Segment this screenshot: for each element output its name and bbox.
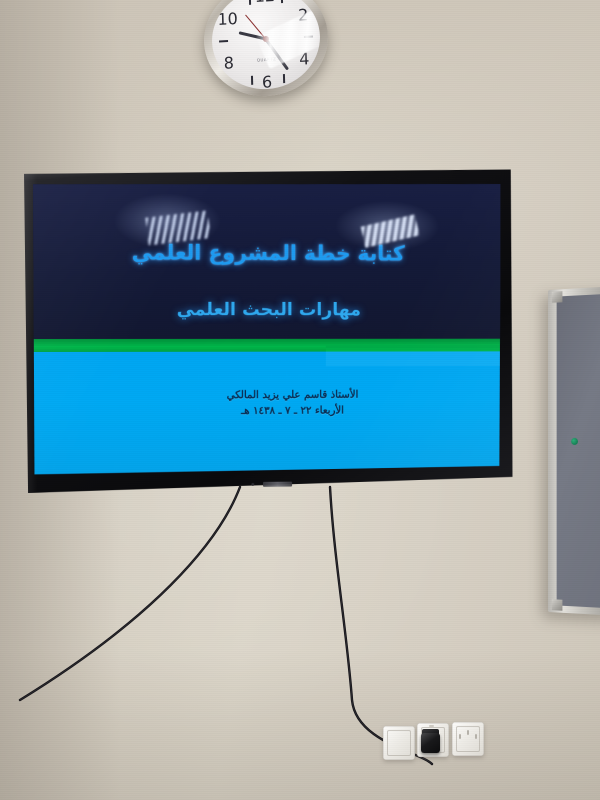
- socket-outlet[interactable]: [452, 722, 484, 756]
- socket-hole-right: [475, 734, 477, 739]
- clock-tick-5: [283, 74, 285, 83]
- tv-screen[interactable]: كتابة خطة المشروع العلمي مهارات البحث ال…: [32, 180, 501, 474]
- board-corner-bottom-left: [552, 599, 563, 611]
- room-photo-scene: 12 2 4 6 8 10 QUARTZ: [0, 0, 600, 800]
- wall-mounted-television[interactable]: كتابة خطة المشروع العلمي مهارات البحث ال…: [22, 163, 513, 493]
- board-magnet: [571, 438, 578, 445]
- plug-body: [421, 733, 440, 753]
- socket-holes: [459, 730, 477, 744]
- board-surface: [557, 293, 600, 608]
- tv-brand-logo: [263, 482, 292, 487]
- clock-tick-7: [251, 76, 253, 85]
- clock-numeral-8: 8: [223, 53, 234, 73]
- blank-plate[interactable]: [383, 726, 415, 760]
- blank-plate-inner: [387, 730, 411, 756]
- socket-switch-indicator: [429, 725, 434, 727]
- clock-tick-9: [219, 40, 228, 42]
- clock-tick-11: [249, 0, 251, 5]
- socket-hole-left: [459, 734, 461, 739]
- wall-shading-bottom: [0, 650, 600, 800]
- wall-socket-group[interactable]: [383, 722, 489, 770]
- clock-numeral-12: 12: [254, 0, 275, 6]
- tv-power-led: [251, 483, 254, 486]
- wall-board: [548, 286, 600, 616]
- socket-hole-earth: [467, 730, 469, 735]
- clock-tick-1: [281, 0, 283, 3]
- clock-numeral-10: 10: [217, 9, 238, 29]
- screen-sheen: [32, 180, 501, 474]
- board-corner-top-left: [552, 291, 563, 303]
